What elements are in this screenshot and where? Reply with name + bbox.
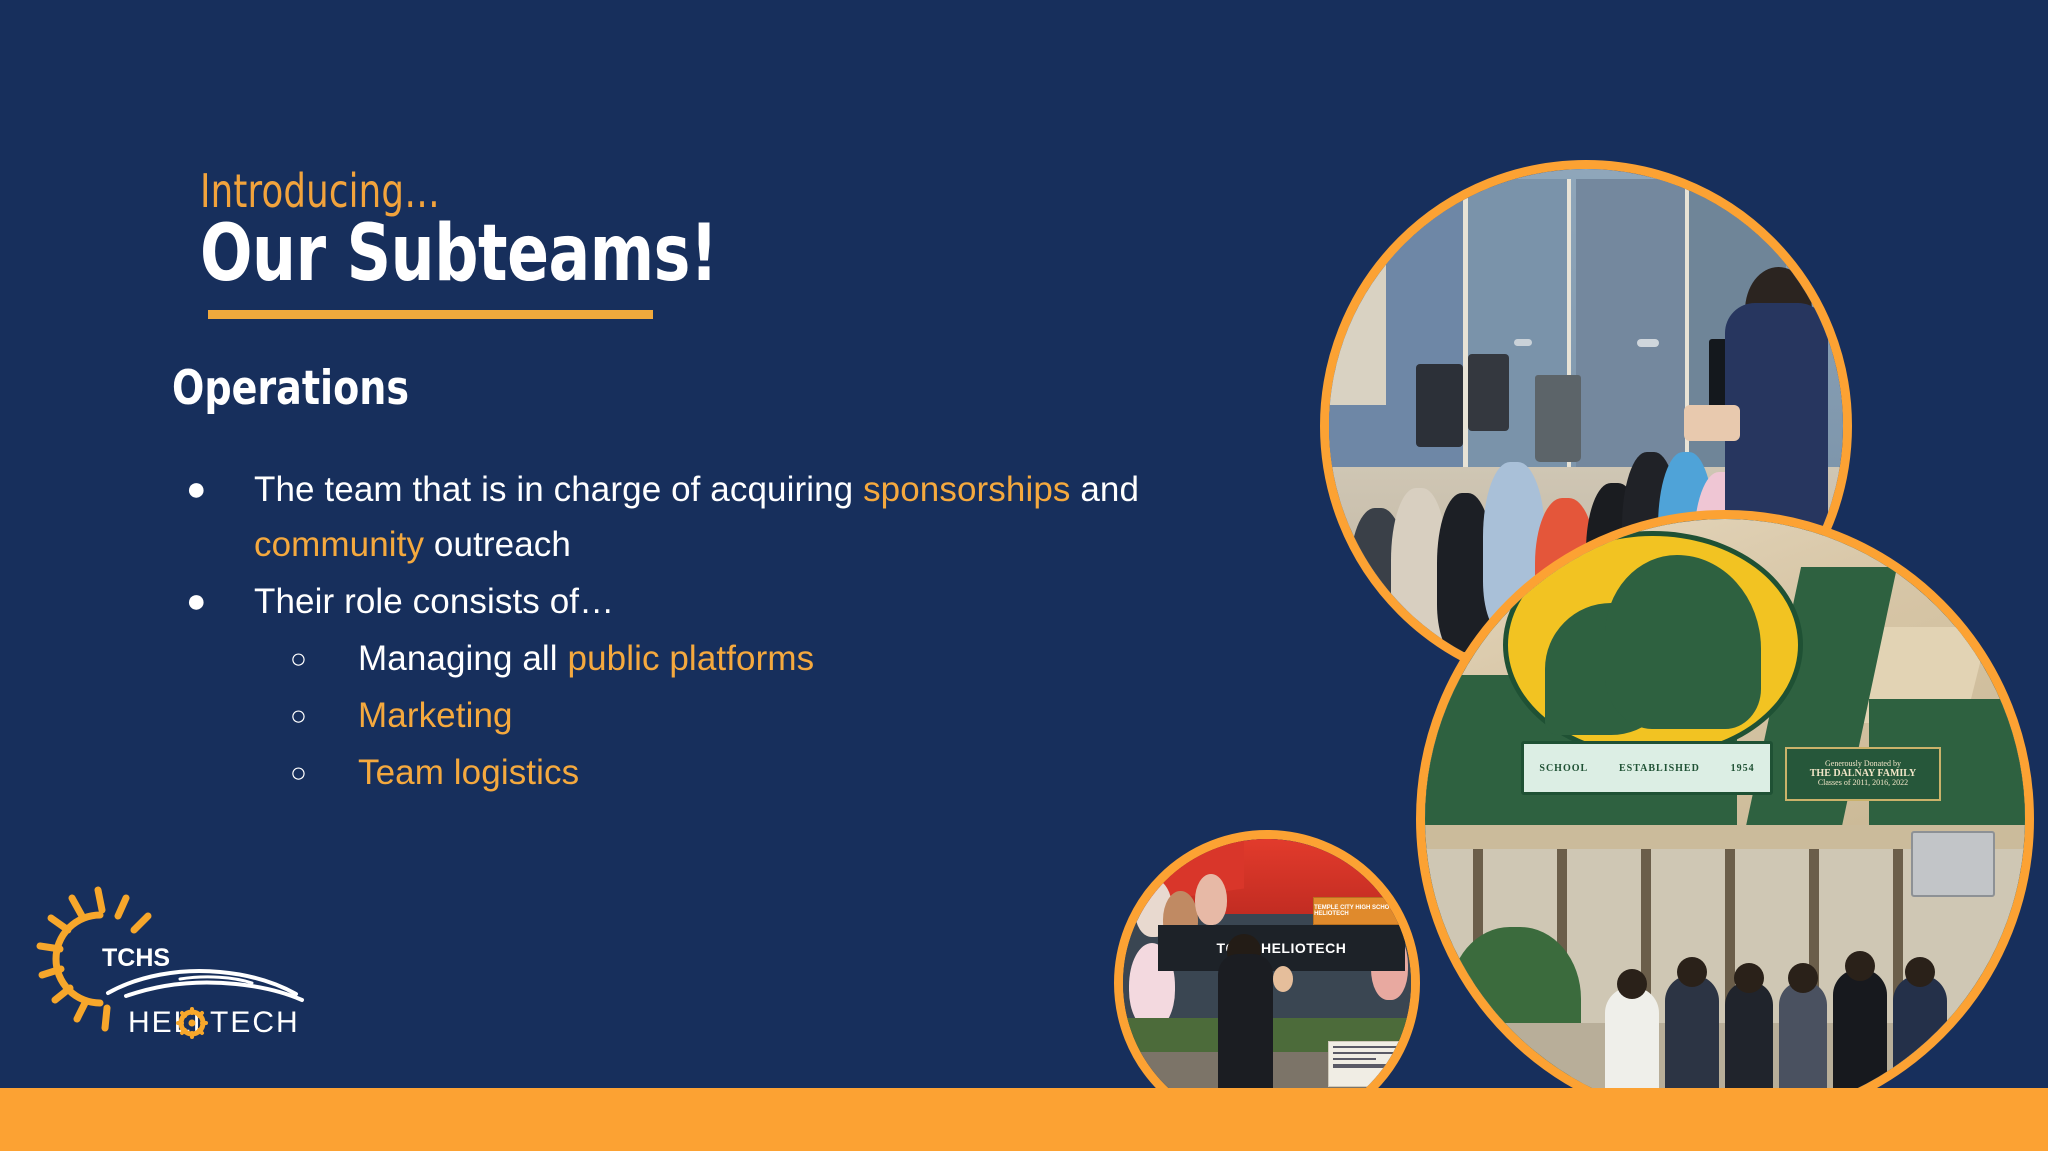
car-silhouette-icon xyxy=(108,971,302,1000)
waving-hand xyxy=(1273,966,1293,992)
student-head xyxy=(1734,963,1764,993)
bullet-text: Their role consists of… xyxy=(254,574,614,629)
bullet-text-run: Managing all xyxy=(358,639,568,678)
bullet-marker: ● xyxy=(186,462,254,517)
bullet-item: ○Marketing xyxy=(290,688,1186,743)
highlighted-term: public platforms xyxy=(568,639,815,678)
bullet-text-run: Their role consists of… xyxy=(254,582,614,621)
crest-banner: SCHOOL ESTABLISHED 1954 xyxy=(1521,741,1773,795)
sub-bullet-marker: ○ xyxy=(290,745,358,800)
highlighted-term: Team logistics xyxy=(358,753,579,792)
logo-wordmark-right: TECH xyxy=(210,1006,300,1039)
photo-collage: SCHOOL ESTABLISHED 1954 Generously Donat… xyxy=(1120,0,2048,1151)
student-head xyxy=(1677,957,1707,987)
sub-bullet-marker: ○ xyxy=(290,688,358,743)
air-conditioner-unit xyxy=(1911,831,1995,897)
bullet-item: ●Their role consists of… xyxy=(186,574,1186,629)
banner-school-label: SCHOOL xyxy=(1539,763,1588,774)
title-underline-rule xyxy=(208,310,653,319)
highlighted-term: Marketing xyxy=(358,696,513,735)
bullet-marker: ● xyxy=(186,574,254,629)
page-title: Our Subteams! xyxy=(200,215,718,293)
sub-bullet-marker: ○ xyxy=(290,631,358,686)
heliotech-banner: TCHS HELIOTECH xyxy=(1158,925,1406,971)
donor-plaque: Generously Donated by THE DALNAY FAMILY … xyxy=(1785,747,1941,801)
school-mural-group-photo: SCHOOL ESTABLISHED 1954 Generously Donat… xyxy=(1416,510,2034,1128)
heliotech-logo: TCHS HELI xyxy=(30,880,320,1040)
booth-sign-label: TEMPLE CITY HIGH SCHOOL HELIOTECH xyxy=(1314,905,1398,917)
banner-year-label: 1954 xyxy=(1731,763,1755,774)
bullet-text: The team that is in charge of acquiring … xyxy=(254,462,1186,572)
door-handle xyxy=(1637,339,1659,347)
logo-sun-label: TCHS xyxy=(102,944,170,972)
bullet-item: ●The team that is in charge of acquiring… xyxy=(186,462,1186,572)
trash-can xyxy=(1535,375,1581,462)
booth-sign: TEMPLE CITY HIGH SCHOOL HELIOTECH xyxy=(1313,897,1399,926)
student-head xyxy=(1905,957,1935,987)
student-head xyxy=(1788,963,1818,993)
slide-content: Introducing… Our Subteams! Operations ●T… xyxy=(0,0,1180,1151)
door-handle xyxy=(1514,339,1532,346)
bullet-text: Managing all public platforms xyxy=(358,631,814,686)
gear-icon xyxy=(178,1009,206,1037)
plush-prize xyxy=(1195,874,1227,926)
bullet-text-run: and xyxy=(1071,470,1140,509)
bullet-text: Marketing xyxy=(358,688,513,743)
bullet-item: ○Managing all public platforms xyxy=(290,631,1186,686)
student-body xyxy=(1218,954,1273,1104)
bullet-list: ●The team that is in charge of acquiring… xyxy=(186,462,1186,802)
plaque-line-3: Classes of 2011, 2016, 2022 xyxy=(1818,779,1908,787)
section-heading: Operations xyxy=(172,365,409,412)
student-head xyxy=(1617,969,1647,999)
highlighted-term: sponsorships xyxy=(863,470,1070,509)
bullet-item: ○Team logistics xyxy=(290,745,1186,800)
bullet-text-run: outreach xyxy=(424,525,571,564)
banner-established-label: ESTABLISHED xyxy=(1619,763,1700,774)
highlighted-term: community xyxy=(254,525,424,564)
slide-kicker: Introducing… xyxy=(200,168,440,214)
student-head xyxy=(1845,951,1875,981)
classroom-corner-wall xyxy=(1329,169,1386,405)
chair xyxy=(1468,354,1509,431)
chair xyxy=(1416,364,1462,446)
bullet-text-run: The team that is in charge of acquiring xyxy=(254,470,863,509)
handwritten-sign xyxy=(1328,1041,1403,1087)
bullet-text: Team logistics xyxy=(358,745,579,800)
presenter-arm xyxy=(1684,405,1741,441)
classroom-door xyxy=(1576,179,1689,467)
